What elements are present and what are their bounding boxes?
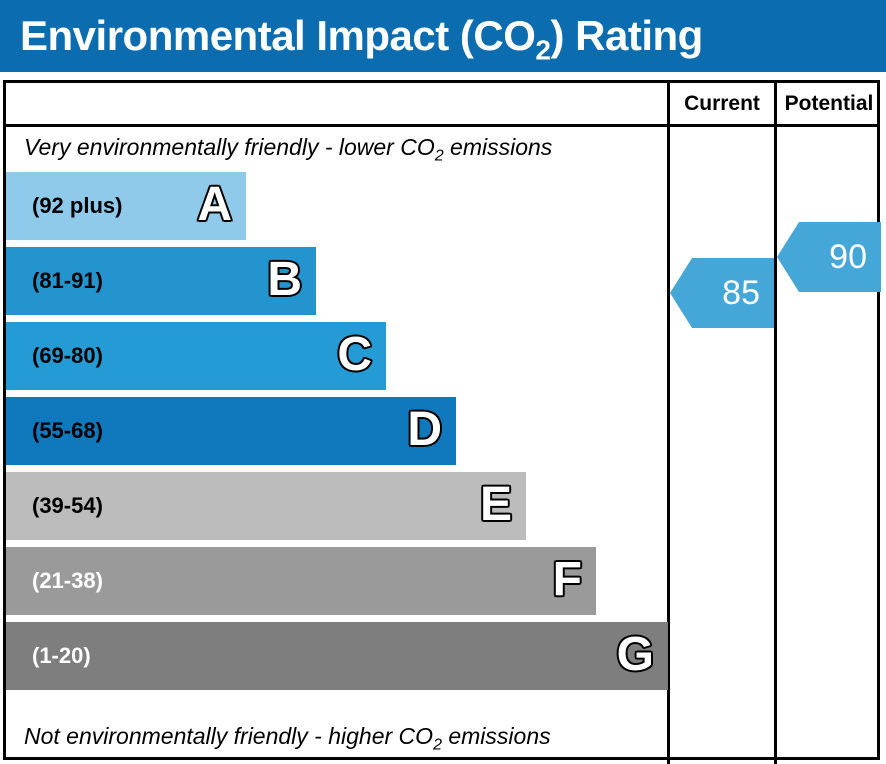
epc-environmental-impact-chart: Environmental Impact (CO2) Rating Curren… [0,0,886,764]
band-letter-d: D [407,397,442,465]
page-title-prefix: Environmental Impact (CO [20,12,535,59]
band-range-a: (92 plus) [32,172,122,240]
rating-band-f: (21-38)F [6,547,596,615]
column-divider-potential [774,80,777,764]
rating-band-c: (69-80)C [6,322,386,390]
band-letter-e: E [480,472,512,540]
caption-top-subscript: 2 [435,148,444,165]
caption-top: Very environmentally friendly - lower CO… [24,130,664,164]
caption-bottom-subscript: 2 [433,737,442,754]
column-header-potential: Potential [777,86,881,122]
band-letter-a: A [197,172,232,240]
page-title-suffix: ) Rating [551,12,703,59]
bands-panel: Very environmentally friendly - lower CO… [6,127,667,757]
band-letter-b: B [267,247,302,315]
band-range-f: (21-38) [32,547,103,615]
rating-band-e: (39-54)E [6,472,526,540]
caption-bottom-prefix: Not environmentally friendly - higher CO [24,723,433,749]
band-range-c: (69-80) [32,322,103,390]
potential-rating-marker: 90 [777,222,881,292]
page-title-subscript: 2 [535,34,550,65]
band-letter-c: C [337,322,372,390]
band-range-b: (81-91) [32,247,103,315]
band-letter-f: F [553,547,582,615]
caption-top-prefix: Very environmentally friendly - lower CO [24,134,435,160]
caption-top-suffix: emissions [444,134,553,160]
current-rating-marker: 85 [670,258,774,328]
rating-band-a: (92 plus)A [6,172,246,240]
band-letter-g: G [617,622,654,690]
rating-band-b: (81-91)B [6,247,316,315]
rating-band-d: (55-68)D [6,397,456,465]
column-header-current: Current [670,86,774,122]
caption-bottom: Not environmentally friendly - higher CO… [24,719,664,753]
rating-band-g: (1-20)G [6,622,668,690]
band-range-d: (55-68) [32,397,103,465]
page-title: Environmental Impact (CO2) Rating [20,8,860,66]
band-range-g: (1-20) [32,622,91,690]
caption-bottom-suffix: emissions [442,723,551,749]
band-range-e: (39-54) [32,472,103,540]
